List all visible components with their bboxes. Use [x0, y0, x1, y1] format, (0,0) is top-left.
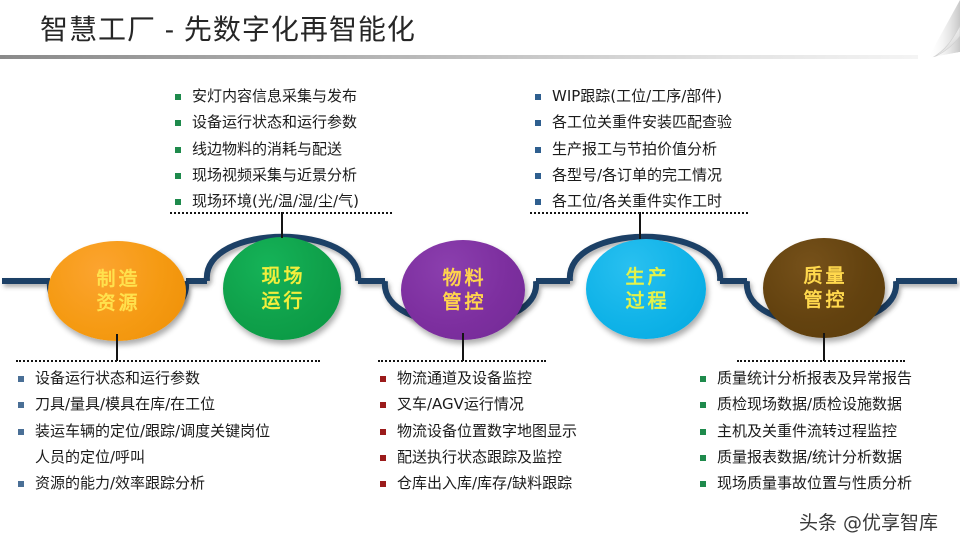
node-label-line2: 资源	[93, 291, 140, 315]
list-item-continuation: 人员的定位/呼叫	[18, 447, 270, 468]
bullet-square-icon	[18, 429, 24, 435]
bullet-square-icon	[18, 481, 24, 487]
bullet-square-icon	[535, 173, 541, 179]
connector-stem-material	[462, 333, 464, 361]
bullet-square-icon	[380, 429, 386, 435]
bullet-square-icon	[380, 402, 386, 408]
bullet-square-icon	[700, 481, 706, 487]
node-label-line1: 物料	[439, 266, 486, 290]
list-item: 刀具/量具/模具在库/在工位	[18, 394, 270, 415]
bullet-square-icon	[535, 199, 541, 205]
list-item: 生产报工与节拍价值分析	[535, 139, 732, 160]
list-item: 各工位/各关重件实作工时	[535, 191, 732, 212]
list-item: 安灯内容信息采集与发布	[175, 86, 359, 107]
list-item-label: 物流设备位置数字地图显示	[397, 421, 577, 442]
list-item-label: 安灯内容信息采集与发布	[192, 86, 357, 107]
bullet-square-icon	[535, 94, 541, 100]
list-item-label: 资源的能力/效率跟踪分析	[35, 473, 205, 494]
node-label-line2: 过程	[622, 289, 669, 313]
list-item-label: 仓库出入库/库存/缺料跟踪	[397, 473, 572, 494]
bullet-square-icon	[18, 376, 24, 382]
list-item-label: 生产报工与节拍价值分析	[552, 139, 717, 160]
list-item: WIP跟踪(工位/工序/部件)	[535, 86, 732, 107]
bullet-square-icon	[175, 94, 181, 100]
connector-rail-quality	[737, 360, 905, 362]
page-curl-decoration	[898, 0, 960, 62]
list-item: 现场视频采集与近景分析	[175, 165, 359, 186]
node-label-line1: 质量	[800, 264, 847, 288]
bullet-square-icon	[700, 376, 706, 382]
node-quality-control[interactable]: 质量 管控	[763, 238, 885, 338]
list-item-label: 刀具/量具/模具在库/在工位	[35, 394, 215, 415]
list-item-label: 各工位关重件安装匹配查验	[552, 112, 732, 133]
list-item: 仓库出入库/库存/缺料跟踪	[380, 473, 577, 494]
connector-stem-quality	[823, 333, 825, 361]
block-production-process-details: WIP跟踪(工位/工序/部件) 各工位关重件安装匹配查验 生产报工与节拍价值分析…	[535, 86, 732, 217]
list-item-label: 叉车/AGV运行情况	[397, 394, 524, 415]
list-item: 配送执行状态跟踪及监控	[380, 447, 577, 468]
bullet-square-icon	[380, 376, 386, 382]
list-item-label: 现场质量事故位置与性质分析	[717, 473, 912, 494]
bullet-square-icon	[700, 402, 706, 408]
list-item-label: 各型号/各订单的完工情况	[552, 165, 722, 186]
list-item: 现场环境(光/温/湿/尘/气)	[175, 191, 359, 212]
slide-header: 智慧工厂 - 先数字化再智能化	[0, 0, 960, 58]
list-item-label: 质量报表数据/统计分析数据	[717, 447, 902, 468]
connector-stem-resource	[116, 334, 118, 361]
list-item-label: 装运车辆的定位/跟踪/调度关键岗位	[35, 421, 270, 442]
list-item: 各型号/各订单的完工情况	[535, 165, 732, 186]
list-item: 装运车辆的定位/跟踪/调度关键岗位	[18, 421, 270, 442]
bullet-square-icon	[175, 173, 181, 179]
list-item: 主机及关重件流转过程监控	[700, 421, 912, 442]
bullet-square-icon	[700, 429, 706, 435]
list-item: 设备运行状态和运行参数	[18, 368, 270, 389]
list-item-label: 质量统计分析报表及异常报告	[717, 368, 912, 389]
list-item: 线边物料的消耗与配送	[175, 139, 359, 160]
list-item: 质量统计分析报表及异常报告	[700, 368, 912, 389]
node-material-control[interactable]: 物料 管控	[401, 240, 525, 340]
bullet-square-icon	[535, 147, 541, 153]
node-production-process[interactable]: 生产 过程	[586, 239, 706, 339]
list-item: 物流设备位置数字地图显示	[380, 421, 577, 442]
block-manufacturing-resource-details: 设备运行状态和运行参数 刀具/量具/模具在库/在工位 装运车辆的定位/跟踪/调度…	[18, 368, 270, 499]
list-item: 叉车/AGV运行情况	[380, 394, 577, 415]
block-shopfloor-operation-details: 安灯内容信息采集与发布 设备运行状态和运行参数 线边物料的消耗与配送 现场视频采…	[175, 86, 359, 217]
node-label-line1: 生产	[622, 265, 669, 289]
list-item-label: 现场环境(光/温/湿/尘/气)	[192, 191, 359, 212]
bullet-square-icon	[175, 199, 181, 205]
node-shopfloor-operation[interactable]: 现场 运行	[223, 237, 341, 340]
list-item-label: 线边物料的消耗与配送	[192, 139, 342, 160]
slide-canvas: 智慧工厂 - 先数字化再智能化	[0, 0, 960, 540]
node-label-line2: 管控	[439, 290, 486, 314]
list-item-label: 设备运行状态和运行参数	[35, 368, 200, 389]
list-item-label: 质检现场数据/质检设施数据	[717, 394, 902, 415]
list-item-label: 人员的定位/呼叫	[35, 447, 145, 468]
list-item-label: 设备运行状态和运行参数	[192, 112, 357, 133]
list-item: 质量报表数据/统计分析数据	[700, 447, 912, 468]
watermark: 头条 @优享智库	[799, 508, 938, 535]
bullet-square-icon	[380, 481, 386, 487]
node-label-line1: 现场	[258, 264, 305, 288]
list-item: 物流通道及设备监控	[380, 368, 577, 389]
list-item-label: WIP跟踪(工位/工序/部件)	[552, 86, 722, 107]
bullet-square-icon	[18, 402, 24, 408]
list-item: 各工位关重件安装匹配查验	[535, 112, 732, 133]
bullet-square-icon	[175, 120, 181, 126]
list-item: 设备运行状态和运行参数	[175, 112, 359, 133]
connector-rail-material	[378, 360, 546, 362]
list-item-label: 主机及关重件流转过程监控	[717, 421, 897, 442]
header-divider	[0, 55, 918, 59]
bullet-square-icon	[535, 120, 541, 126]
page-title: 智慧工厂 - 先数字化再智能化	[40, 8, 416, 48]
list-item: 资源的能力/效率跟踪分析	[18, 473, 270, 494]
list-item-label: 配送执行状态跟踪及监控	[397, 447, 562, 468]
block-material-control-details: 物流通道及设备监控 叉车/AGV运行情况 物流设备位置数字地图显示 配送执行状态…	[380, 368, 577, 499]
bullet-square-icon	[380, 455, 386, 461]
list-item: 现场质量事故位置与性质分析	[700, 473, 912, 494]
list-item-label: 各工位/各关重件实作工时	[552, 191, 722, 212]
bullet-square-icon	[175, 147, 181, 153]
block-quality-control-details: 质量统计分析报表及异常报告 质检现场数据/质检设施数据 主机及关重件流转过程监控…	[700, 368, 912, 499]
list-item-label: 物流通道及设备监控	[397, 368, 532, 389]
bullet-square-icon	[700, 455, 706, 461]
list-item: 质检现场数据/质检设施数据	[700, 394, 912, 415]
list-item-label: 现场视频采集与近景分析	[192, 165, 357, 186]
node-label-line1: 制造	[93, 267, 140, 291]
connector-rail-resource	[16, 360, 320, 362]
node-label-line2: 运行	[258, 289, 305, 313]
node-manufacturing-resource[interactable]: 制造 资源	[48, 241, 186, 341]
node-label-line2: 管控	[800, 288, 847, 312]
